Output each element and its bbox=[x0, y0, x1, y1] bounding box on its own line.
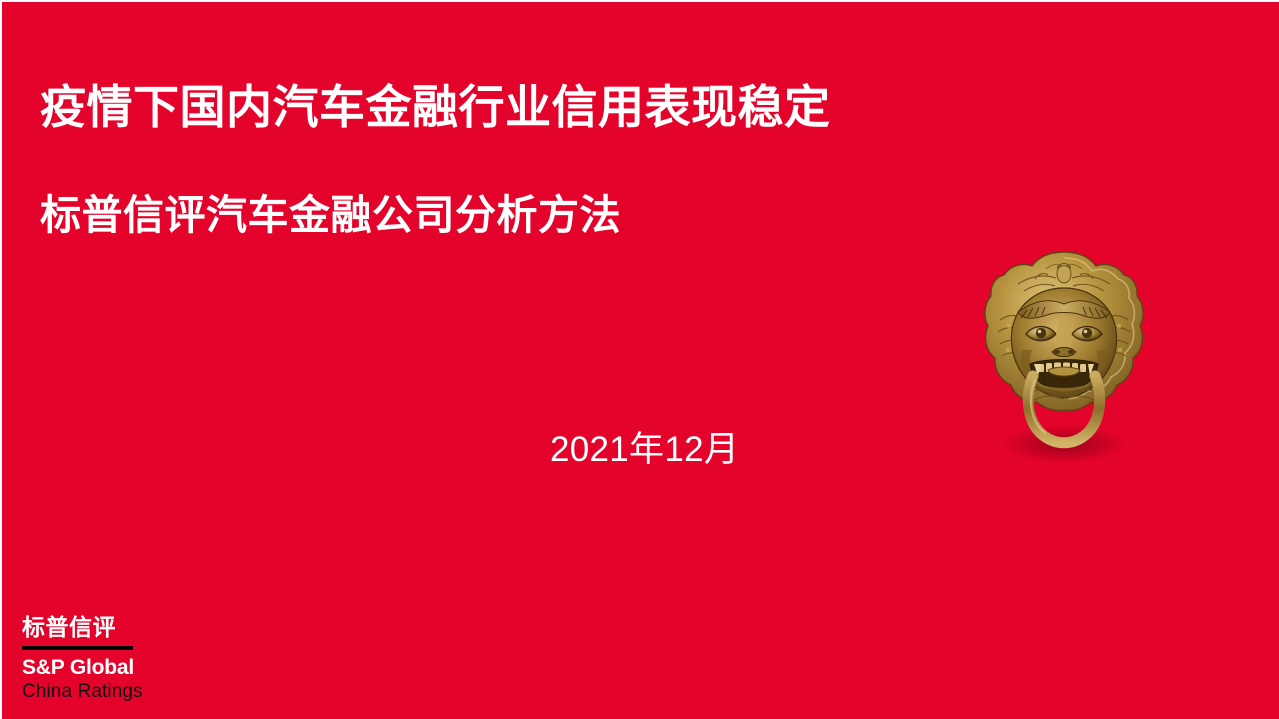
title-block: 疫情下国内汽车金融行业信用表现稳定 bbox=[40, 78, 970, 136]
logo-chinese-name: 标普信评 bbox=[22, 612, 162, 642]
logo-brand-name: S&P Global bbox=[22, 655, 162, 680]
page-subtitle: 标普信评汽车金融公司分析方法 bbox=[40, 190, 621, 240]
lion-door-knocker-image bbox=[978, 248, 1150, 463]
page-title: 疫情下国内汽车金融行业信用表现稳定 bbox=[40, 78, 970, 136]
logo-division-name: China Ratings bbox=[22, 680, 162, 704]
logo-divider bbox=[22, 646, 133, 650]
brand-logo: 标普信评 S&P Global China Ratings bbox=[22, 612, 162, 704]
title-slide: 疫情下国内汽车金融行业信用表现稳定 标普信评汽车金融公司分析方法 2021年12… bbox=[0, 0, 1279, 719]
publication-date: 2021年12月 bbox=[550, 428, 739, 472]
